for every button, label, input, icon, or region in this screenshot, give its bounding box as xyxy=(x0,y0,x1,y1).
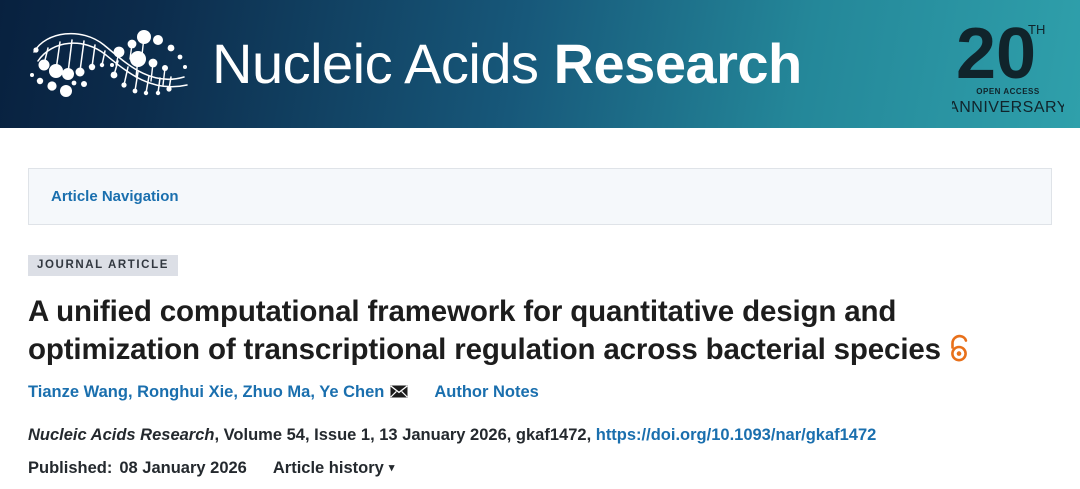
dna-helix-icon xyxy=(22,15,200,113)
brand-row[interactable]: Nucleic Acids Research xyxy=(0,0,1080,128)
author-sep-2: , xyxy=(233,383,242,401)
open-access-lock-icon xyxy=(948,334,970,372)
journal-title-bold: Research xyxy=(554,32,802,95)
author-notes-link[interactable]: Author Notes xyxy=(434,383,539,401)
envelope-icon[interactable] xyxy=(390,383,408,404)
publication-row: Published:08 January 2026Article history… xyxy=(28,459,1052,478)
citation-journal-name: Nucleic Acids Research xyxy=(28,426,214,444)
article-history-label: Article history xyxy=(273,459,384,477)
article-type-badge: JOURNAL ARTICLE xyxy=(28,255,178,276)
svg-text:ANNIVERSARY: ANNIVERSARY xyxy=(952,99,1064,116)
article-header: JOURNAL ARTICLE A unified computational … xyxy=(0,255,1080,478)
citation-line: Nucleic Acids Research, Volume 54, Issue… xyxy=(28,424,1052,446)
author-link-1[interactable]: Tianze Wang xyxy=(28,383,128,401)
chevron-down-icon: ▾ xyxy=(389,461,395,474)
author-list: Tianze Wang, Ronghui Xie, Zhuo Ma, Ye Ch… xyxy=(28,382,1052,404)
page-title: A unified computational framework for qu… xyxy=(28,293,1038,372)
article-navigation-label[interactable]: Article Navigation xyxy=(51,188,179,205)
author-sep-1: , xyxy=(128,383,137,401)
article-title-text: A unified computational framework for qu… xyxy=(28,295,941,366)
svg-text:OPEN ACCESS: OPEN ACCESS xyxy=(976,87,1040,96)
journal-title: Nucleic Acids Research xyxy=(212,36,802,92)
svg-text:TH: TH xyxy=(1028,22,1045,37)
article-history-toggle[interactable]: Article history▾ xyxy=(273,459,394,477)
citation-details: , Volume 54, Issue 1, 13 January 2026, g… xyxy=(214,426,595,444)
author-link-4[interactable]: Ye Chen xyxy=(319,383,384,401)
author-link-2[interactable]: Ronghui Xie xyxy=(137,383,233,401)
author-sep-3: , xyxy=(310,383,319,401)
page-body: Article Navigation JOURNAL ARTICLE A uni… xyxy=(0,168,1080,478)
doi-link[interactable]: https://doi.org/10.1093/nar/gkaf1472 xyxy=(596,426,877,444)
svg-text:20: 20 xyxy=(956,14,1036,94)
journal-title-light: Nucleic Acids xyxy=(212,32,539,95)
journal-masthead: Nucleic Acids Research 20 TH OPEN ACCESS… xyxy=(0,0,1080,128)
anniversary-logo: 20 TH OPEN ACCESS ANNIVERSARY xyxy=(952,6,1064,122)
author-link-3[interactable]: Zhuo Ma xyxy=(243,383,311,401)
article-navigation-bar[interactable]: Article Navigation xyxy=(28,168,1052,225)
published-date: 08 January 2026 xyxy=(119,459,247,477)
published-label: Published: xyxy=(28,459,112,477)
